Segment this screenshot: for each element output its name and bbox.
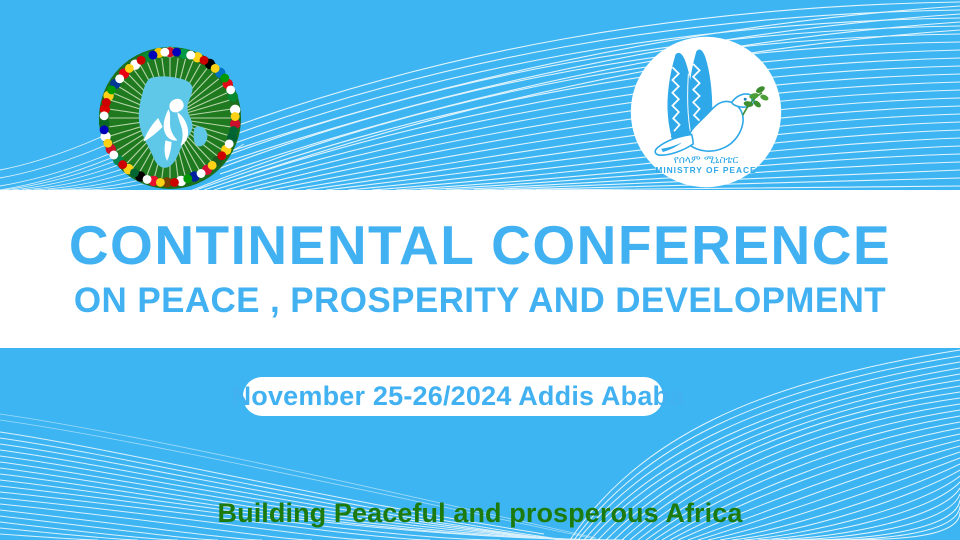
conference-poster: የሰላም ሚኒስቴር MINISTRY OF PEACE CONTINENTAL… — [0, 0, 960, 540]
ministry-of-peace-logo: የሰላም ሚኒስቴር MINISTRY OF PEACE — [626, 32, 786, 192]
date-venue-text: November 25-26/2024 Addis Ababa — [248, 379, 668, 414]
tagline: Building Peaceful and prosperous Africa — [0, 498, 960, 529]
african-union-emblem — [96, 44, 244, 192]
page-title: CONTINENTAL CONFERENCE — [69, 217, 891, 273]
page-subtitle: ON PEACE , PROSPERITY AND DEVELOPMENT — [74, 281, 886, 321]
title-band: CONTINENTAL CONFERENCE ON PEACE , PROSPE… — [0, 190, 960, 348]
ministry-english-text: MINISTRY OF PEACE — [655, 165, 756, 175]
